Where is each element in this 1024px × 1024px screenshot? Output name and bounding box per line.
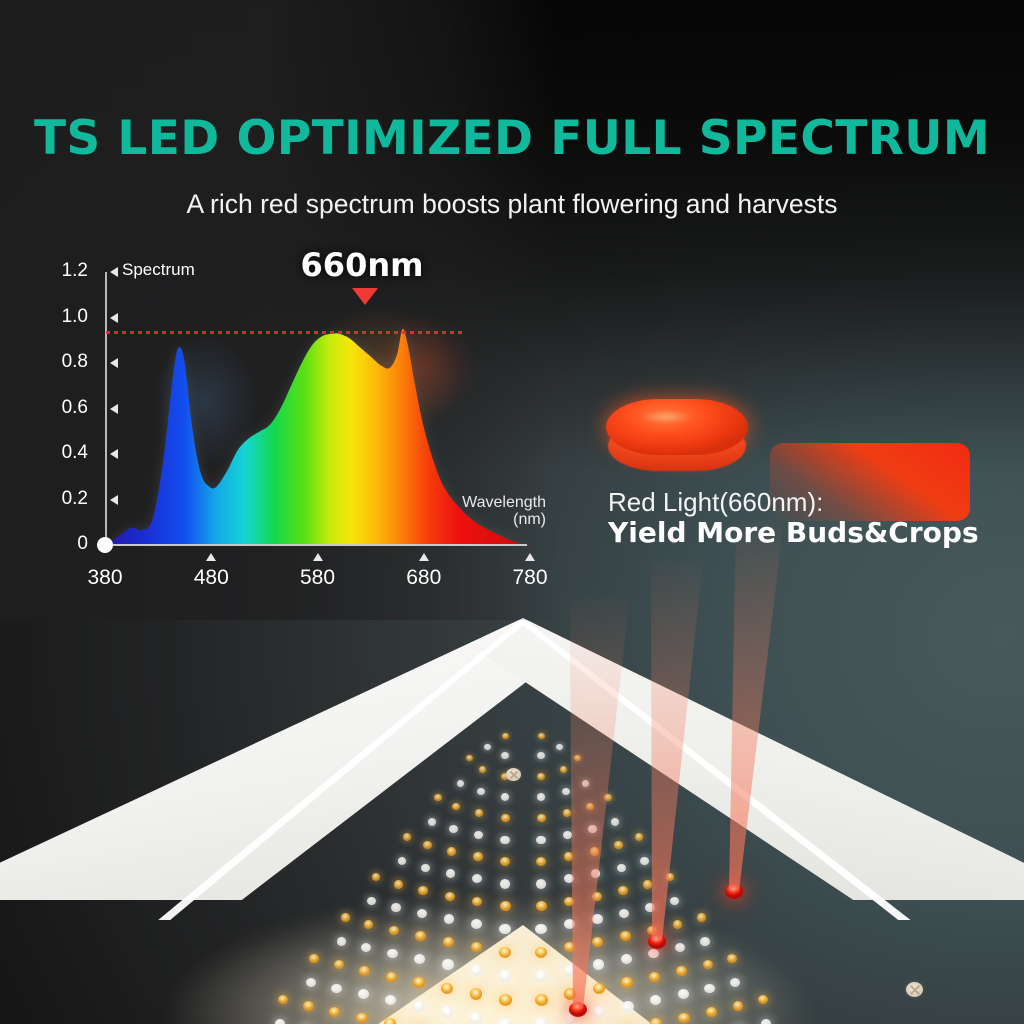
led-diode-warm <box>758 995 768 1004</box>
led-diode-white <box>535 970 548 982</box>
y-axis-tick-label: 0.2 <box>44 488 88 510</box>
red-light-callout: Red Light(660nm): Yield More Buds&Crops <box>608 487 1008 549</box>
led-diode-white <box>457 780 465 787</box>
led-diode-white <box>675 943 685 952</box>
led-diode-warm <box>445 892 455 901</box>
led-diode-warm <box>592 937 603 947</box>
led-diode-warm <box>384 1018 396 1024</box>
x-axis-title: Wavelength (nm) <box>448 494 546 528</box>
led-diode-white <box>562 788 570 795</box>
marketing-banner: TS LED OPTIMIZED FULL SPECTRUM A rich re… <box>0 0 1024 1024</box>
led-diode-warm <box>643 880 652 888</box>
led-diode-warm <box>621 977 633 988</box>
peak-annotation-label: 660nm <box>262 246 462 284</box>
led-diode-warm <box>423 841 432 849</box>
led-diode-white <box>428 818 436 825</box>
led-diode-warm <box>649 972 660 982</box>
x-axis-tick-mark <box>206 553 216 561</box>
led-diode-warm <box>727 954 737 963</box>
led-diode-white <box>611 818 619 825</box>
led-diode-white <box>417 909 427 918</box>
reference-line <box>106 331 462 334</box>
panel-screw <box>506 768 521 781</box>
led-diode-warm <box>635 833 643 840</box>
led-diode-white <box>617 864 626 872</box>
callout-subheading: Yield More Buds&Crops <box>608 517 1008 549</box>
led-diode-white <box>534 1018 548 1024</box>
led-diode-warm <box>538 733 545 739</box>
led-diode-white <box>444 914 455 924</box>
x-axis-tick-mark <box>419 553 429 561</box>
led-diode-warm <box>537 814 546 822</box>
led-diode-white <box>391 903 401 912</box>
led-diode-white <box>648 949 659 959</box>
page-title: TS LED OPTIMIZED FULL SPECTRUM <box>0 111 1024 166</box>
led-diode-warm <box>466 755 473 761</box>
peak-annotation-arrow-icon <box>352 288 378 305</box>
led-diode-white <box>421 864 430 872</box>
led-diode-warm <box>413 977 425 988</box>
y-axis-tick-label: 0.8 <box>44 351 88 373</box>
led-diode-white <box>670 897 679 905</box>
led-diode-white <box>537 793 546 801</box>
led-diode-warm <box>620 931 631 941</box>
x-axis-tick-label: 780 <box>495 566 565 590</box>
led-diode-white <box>640 857 649 865</box>
led-diode-white <box>593 1006 606 1018</box>
x-axis-tick-mark <box>313 553 323 561</box>
led-diode-white <box>471 919 482 929</box>
x-axis-title-text: Wavelength <box>462 494 546 511</box>
led-diode-white <box>413 1001 425 1012</box>
led-diode-white <box>730 978 740 987</box>
led-diode-white <box>622 1001 634 1012</box>
led-diode-warm <box>706 1007 717 1017</box>
led-diode-white <box>337 937 347 946</box>
led-diode-warm <box>614 841 623 849</box>
y-axis-tick-mark <box>110 358 118 368</box>
led-diode-warm <box>441 983 453 994</box>
x-axis-tick-label: 680 <box>389 566 459 590</box>
led-diode-white <box>678 989 689 999</box>
led-diode-warm <box>443 937 454 947</box>
led-diode-warm <box>564 852 574 861</box>
y-axis-tick-mark <box>110 313 118 323</box>
panel-screw <box>906 982 923 997</box>
led-diode-warm <box>560 766 568 773</box>
led-diode-warm <box>733 1001 744 1011</box>
chart-series-label: Spectrum <box>122 260 195 280</box>
x-axis-tick-label: 480 <box>176 566 246 590</box>
led-diode-white <box>484 744 491 750</box>
origin-dot <box>97 537 113 553</box>
y-axis-tick-label: 0 <box>44 533 88 555</box>
led-diode-warm <box>535 947 547 958</box>
led-diode-white <box>500 836 510 845</box>
led-diode-white <box>500 879 511 889</box>
led-diode-white <box>442 959 454 970</box>
led-diode-warm <box>418 886 428 895</box>
led-diode-white <box>499 970 512 982</box>
led-diode-white <box>700 937 710 946</box>
led-diode-warm <box>499 994 512 1006</box>
led-diode-white <box>331 984 342 994</box>
led-panel-photo <box>0 600 1024 1024</box>
led-diode-warm <box>563 809 572 817</box>
x-axis-tick-label: 580 <box>283 566 353 590</box>
x-axis-line <box>105 544 527 546</box>
led-diode-white <box>536 879 547 889</box>
led-diode-warm <box>593 983 605 994</box>
spectrum-chart: Spectrum 660nm Wavelength (nm) 00.20.40.… <box>0 236 580 596</box>
y-axis-tick-label: 0.4 <box>44 442 88 464</box>
led-diode-warm <box>303 1001 314 1011</box>
led-diode-white <box>536 836 546 845</box>
callout-heading: Red Light(660nm): <box>608 487 1008 517</box>
y-axis-tick-mark <box>110 267 118 277</box>
led-diode-white <box>441 1006 454 1018</box>
y-axis-line <box>105 272 107 545</box>
led-diode-warm <box>452 803 460 810</box>
led-diode-white <box>446 869 456 878</box>
led-diode-warm <box>341 913 350 921</box>
led-diode-warm <box>500 901 511 911</box>
led-diode-warm <box>447 847 456 855</box>
led-diode-warm <box>475 809 484 817</box>
panel-board-glow <box>120 830 940 1024</box>
led-diode-white <box>537 752 545 759</box>
x-axis-tick-mark <box>525 553 535 561</box>
led-diode-warm <box>278 995 288 1004</box>
led-diode-white <box>501 752 509 759</box>
led-chip-highlight <box>630 407 702 427</box>
led-diode-warm <box>673 920 683 929</box>
led-diode-warm <box>470 988 483 1000</box>
y-axis-tick-mark <box>110 495 118 505</box>
led-diode-warm <box>389 926 399 935</box>
y-axis-tick-mark <box>110 404 118 414</box>
led-diode-warm <box>537 773 545 780</box>
led-diode-white <box>387 949 398 959</box>
led-chip-graphic <box>600 395 760 485</box>
led-diode-warm <box>334 960 344 969</box>
x-axis-title-unit: (nm) <box>513 511 546 528</box>
led-diode-warm <box>479 766 487 773</box>
led-diode-warm <box>502 733 509 739</box>
led-diode-warm <box>676 966 687 976</box>
led-diode-warm <box>499 947 511 958</box>
led-diode-white <box>498 1018 512 1024</box>
led-diode-warm <box>415 931 426 941</box>
led-diode-warm <box>356 1013 368 1024</box>
led-diode-white <box>398 857 407 865</box>
led-diode-warm <box>359 966 370 976</box>
y-axis-tick-label: 1.2 <box>44 260 88 282</box>
led-diode-white <box>470 965 482 976</box>
led-diode-white <box>306 978 316 987</box>
led-diode-warm <box>536 901 547 911</box>
led-diode-white <box>761 1019 772 1024</box>
led-diode-white <box>501 793 510 801</box>
led-diode-warm <box>697 913 706 921</box>
led-diode-white <box>474 831 483 839</box>
led-diode-white <box>358 989 369 999</box>
led-diode-white <box>593 959 605 970</box>
y-axis-tick-mark <box>110 449 118 459</box>
led-diode-warm <box>394 880 403 888</box>
led-diode-warm <box>309 954 319 963</box>
led-diode-warm <box>678 1013 690 1024</box>
led-diode-warm <box>403 833 411 840</box>
led-diode-warm <box>535 994 548 1006</box>
y-axis-tick-label: 1.0 <box>44 306 88 328</box>
led-diode-warm <box>501 814 510 822</box>
led-diode-warm <box>703 960 713 969</box>
led-diode-white <box>556 744 563 750</box>
led-diode-white <box>477 788 485 795</box>
y-axis-tick-label: 0.6 <box>44 397 88 419</box>
led-diode-warm <box>618 886 628 895</box>
page-subtitle: A rich red spectrum boosts plant floweri… <box>0 189 1024 220</box>
led-diode-white <box>621 954 632 964</box>
led-diode-warm <box>650 1018 662 1024</box>
led-diode-warm <box>434 794 442 801</box>
led-diode-warm <box>473 852 483 861</box>
led-diode-white <box>704 984 715 994</box>
led-diode-warm <box>364 920 374 929</box>
x-axis-tick-label: 380 <box>70 566 140 590</box>
led-diode-white <box>449 825 458 833</box>
led-diode-warm <box>386 972 397 982</box>
